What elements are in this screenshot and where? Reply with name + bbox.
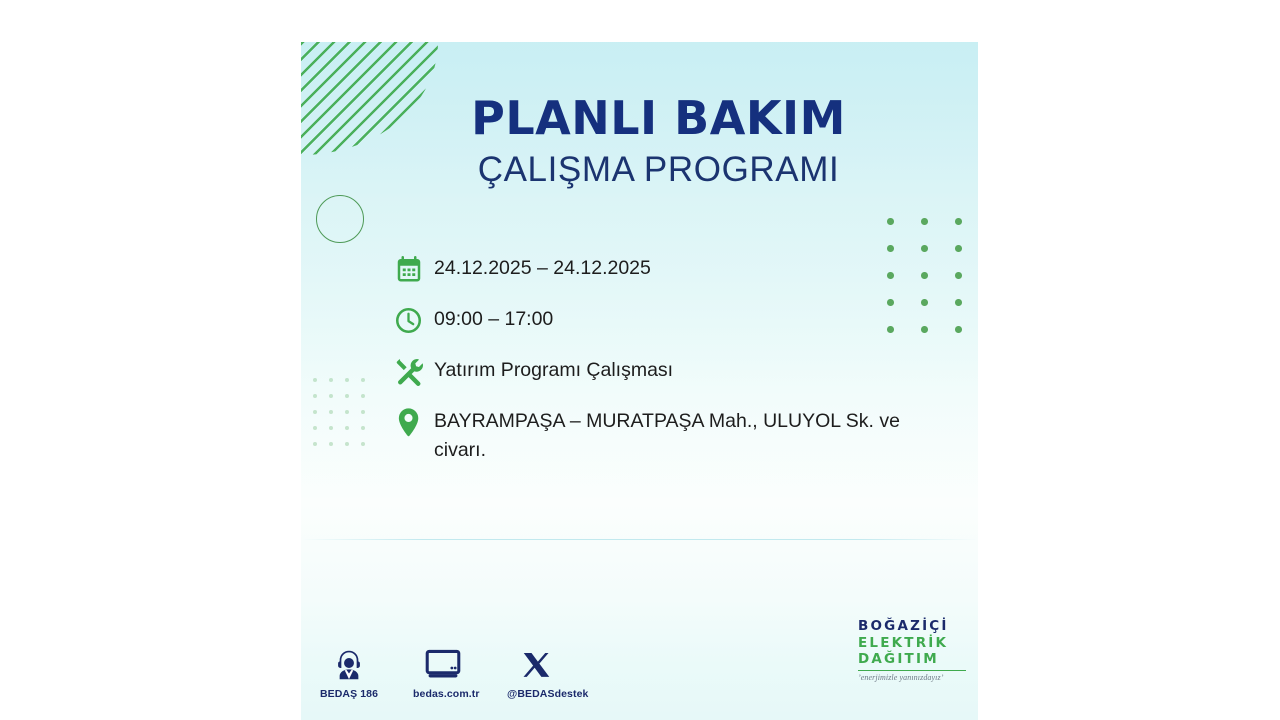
detail-row-location: BAYRAMPAŞA – MURATPAŞA Mah., ULUYOL Sk. …: [394, 405, 954, 465]
contact-website-label: bedas.com.tr: [413, 688, 473, 700]
calendar-icon: [394, 252, 434, 286]
monitor-icon: [413, 642, 473, 682]
logo-line-elektrik: ELEKTRİK: [858, 635, 966, 651]
screenshot-root: PLANLI BAKIM ÇALIŞMA PROGRAMI 2: [0, 0, 1280, 720]
contact-x-label: @BEDASdestek: [507, 688, 567, 700]
detail-text-time: 09:00 – 17:00: [434, 303, 553, 334]
location-pin-icon: [394, 405, 434, 439]
logo-tagline: ’enerjimizle yanınızdayız’: [858, 673, 966, 682]
headset-support-icon: [319, 642, 379, 682]
clock-icon: [394, 303, 434, 337]
dot-grid-left-decoration: [313, 378, 377, 458]
detail-row-worktype: Yatırım Programı Çalışması: [394, 354, 954, 388]
x-twitter-icon: [507, 642, 567, 682]
page-title: PLANLI BAKIM ÇALIŞMA PROGRAMI: [301, 94, 978, 192]
detail-text-date: 24.12.2025 – 24.12.2025: [434, 252, 651, 283]
bedas-logo: BOĞAZİÇİ ELEKTRİK DAĞITIM ’enerjimizle y…: [858, 618, 966, 682]
contact-website[interactable]: bedas.com.tr: [413, 642, 473, 700]
logo-underline: [858, 670, 966, 671]
section-divider: [301, 539, 978, 540]
card-footer: BEDAŞ 186 bedas.com.tr: [301, 628, 978, 702]
title-line-primary: PLANLI BAKIM: [339, 94, 978, 142]
maintenance-notice-card: PLANLI BAKIM ÇALIŞMA PROGRAMI 2: [301, 42, 978, 720]
logo-line-bogazici: BOĞAZİÇİ: [858, 618, 966, 634]
detail-row-time: 09:00 – 17:00: [394, 303, 954, 337]
logo-line-dagitim: DAĞITIM: [858, 651, 966, 667]
contact-x-account[interactable]: @BEDASdestek: [507, 642, 567, 700]
contact-channels: BEDAŞ 186 bedas.com.tr: [319, 642, 567, 700]
detail-text-location: BAYRAMPAŞA – MURATPAŞA Mah., ULUYOL Sk. …: [434, 405, 934, 465]
detail-row-date: 24.12.2025 – 24.12.2025: [394, 252, 954, 286]
notice-details-list: 24.12.2025 – 24.12.2025 09:00 – 17:00: [394, 252, 954, 465]
contact-phone[interactable]: BEDAŞ 186: [319, 642, 379, 700]
tools-icon: [394, 354, 434, 388]
contact-phone-label: BEDAŞ 186: [319, 688, 379, 700]
title-line-secondary: ÇALIŞMA PROGRAMI: [339, 149, 978, 192]
circle-outline-decoration: [316, 195, 364, 243]
detail-text-worktype: Yatırım Programı Çalışması: [434, 354, 673, 385]
